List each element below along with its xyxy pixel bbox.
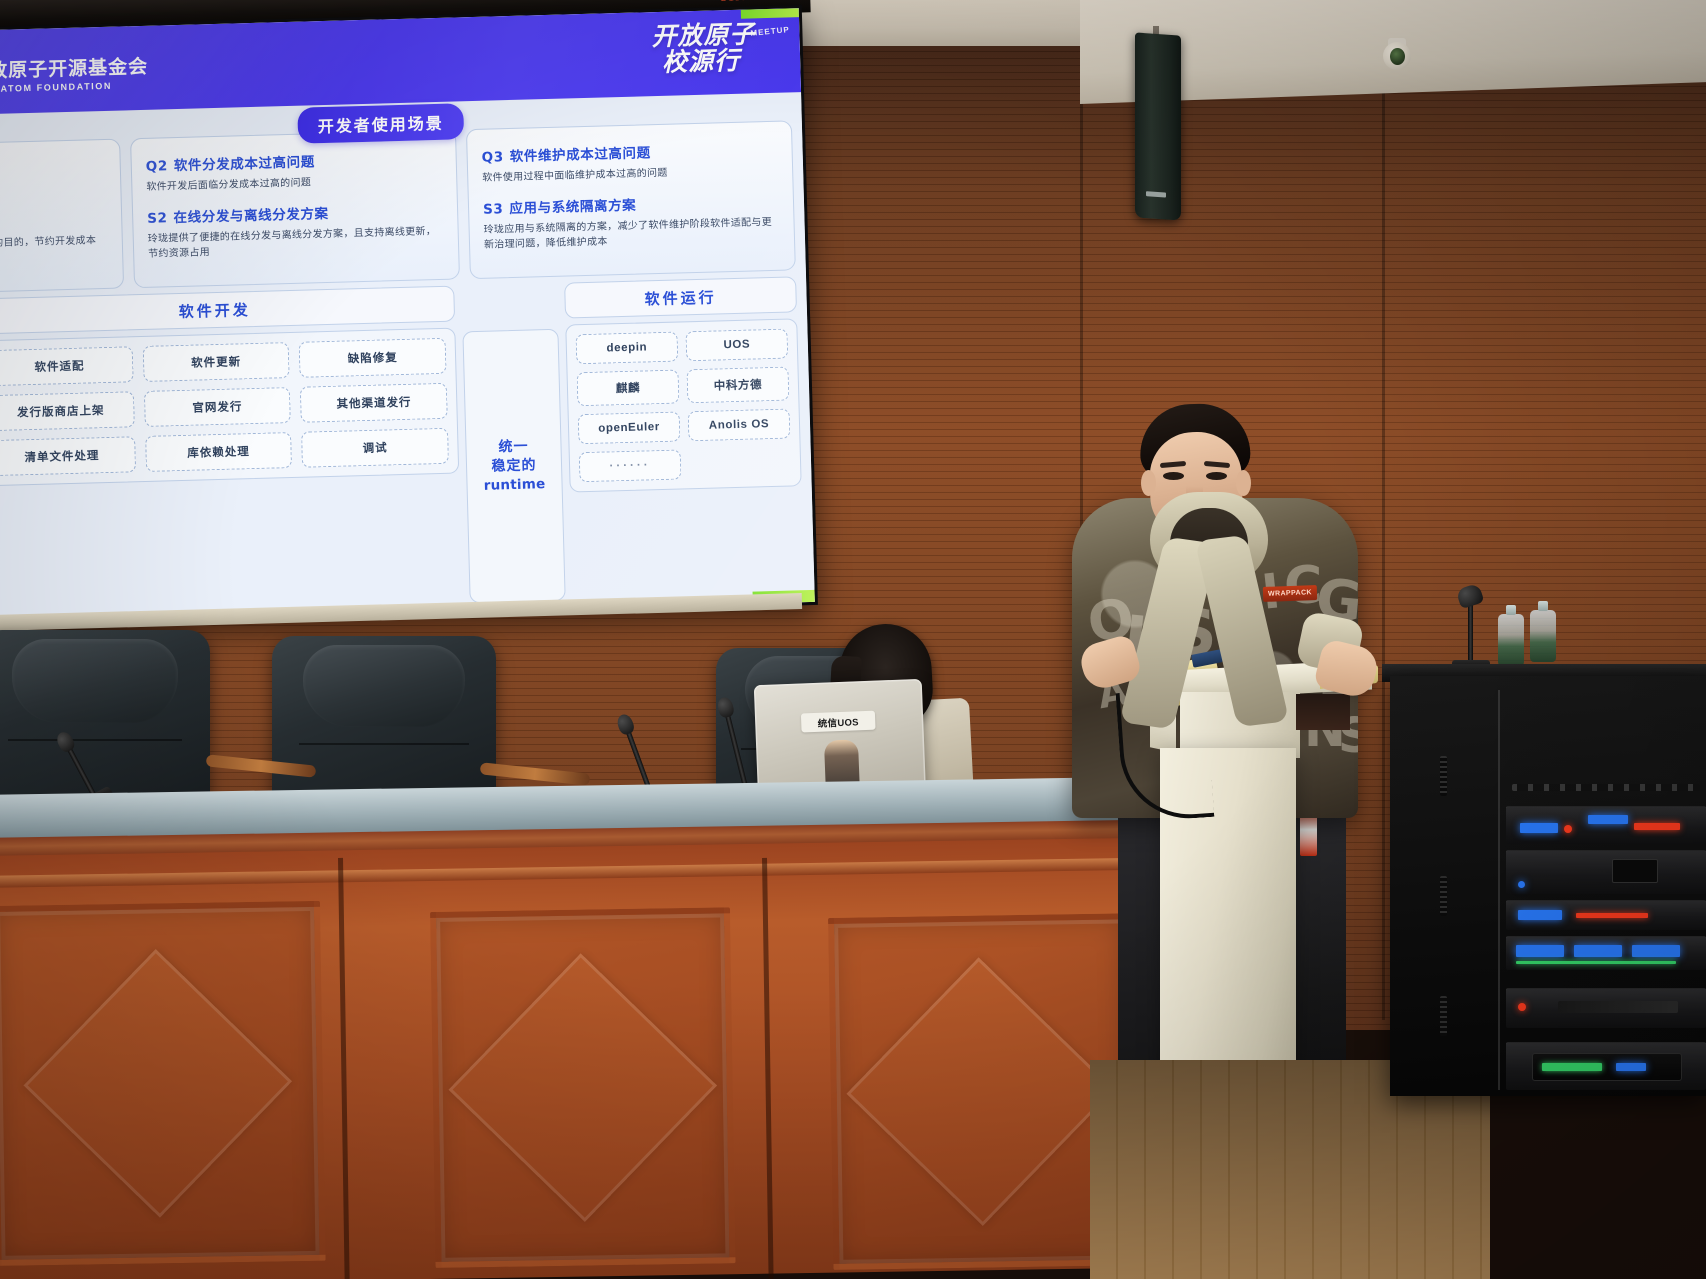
presenter-ear [1236,470,1251,496]
q3-desc: 软件使用过程中面临维护成本过高的问题 [482,163,778,187]
dev-chip: 调试 [301,428,449,468]
q3-title: Q3软件维护成本过高问题 [481,138,777,166]
water-bottle [1498,614,1524,666]
green-accent-top [741,8,799,19]
openatom-foundation-logo: 开放原子开源基金会 OPENATOM FOUNDATION [0,58,149,95]
runtime-line3: runtime [484,475,546,496]
os-chip-deepin: deepin [576,332,679,365]
s2-title-text: 在线分发与离线分发方案 [173,205,328,224]
foundation-name-en: OPENATOM FOUNDATION [0,80,149,95]
q2-title: Q2软件分发成本过高问题 [146,147,442,175]
desk-panel-carving [430,907,736,1268]
uos-sticker: 统信UOS [801,711,876,733]
question-card-row: Q1成本过高问题 发行版本、多软件版本开发的问题 S1的运行软件 稳定的运行软件… [0,120,796,292]
runtime-line2: 稳定的 [491,456,537,477]
question-card-q2: Q2软件分发成本过高问题 软件开发后面临分发成本过高的问题 S2在线分发与离线分… [130,129,460,288]
rack-mixer-unit[interactable] [1506,936,1706,970]
question-card-q1: Q1成本过高问题 发行版本、多软件版本开发的问题 S1的运行软件 稳定的运行软件… [0,139,124,298]
leather-chair [0,630,210,805]
dev-chip: 缺陷修复 [299,338,447,378]
meetup-mark: MEETUP [750,25,790,38]
run-section-title: 软件运行 [564,276,797,318]
s3-tag: S3 [483,201,504,218]
dev-chip: 软件更新 [142,342,290,382]
s2-title: S2在线分发与离线分发方案 [147,198,443,226]
presenter-eye [1163,472,1184,480]
section-badge: 开发者使用场景 [297,103,464,143]
rack-player-unit[interactable] [1506,988,1706,1028]
presentation-slide: 开放原子开源基金会 OPENATOM FOUNDATION 开放原子 校源行 M… [0,8,815,625]
s1-desc: 稳定的运行软件，支持一次打包即可发布的目的，节约开发成本 [0,232,108,256]
s3-title: S3应用与系统隔离方案 [483,189,779,217]
rack-door-seam [1498,690,1500,1090]
podium-opening [1296,694,1350,730]
screenshot-root: SONY 开放原子开源基金会 OPENATOM FOUNDATION 开放原子 … [0,0,1706,1279]
s3-title-text: 应用与系统隔离方案 [509,197,636,215]
event-logo: 开放原子 校源行 MEETUP [651,21,756,76]
slide-body: 开发者使用场景 Q1成本过高问题 发行版本、多软件版本开发的问题 S1的运行软件… [0,92,815,625]
dev-chip: 发行版商店上架 [0,391,135,431]
q2-title-text: 软件分发成本过高问题 [174,154,315,173]
os-chip-openeuler: openEuler [578,412,681,445]
rack-processor-unit[interactable] [1506,900,1706,930]
q2-desc: 软件开发后面临分发成本过高的问题 [146,172,442,196]
rack-amplifier-unit[interactable] [1506,850,1706,894]
unified-runtime-box: 统一 稳定的 runtime [462,329,565,603]
q3-title-text: 软件维护成本过高问题 [510,145,651,164]
dev-row: 发行版商店上架 官网发行 其他渠道发行 [0,383,448,431]
dev-chip: 库依赖处理 [145,432,293,472]
dev-section-title: 软件开发 [0,286,455,335]
q2-tag: Q2 [146,158,169,175]
runtime-line1: 统一 [498,436,529,457]
lower-sections: 软件开发 软件适配 软件更新 缺陷修复 发行版商店上架 [0,276,805,616]
presenter-ear [1141,470,1156,496]
dev-row: 清单文件处理 库依赖处理 调试 [0,428,449,476]
dev-chip: 官网发行 [144,387,292,427]
dev-chip: 其他渠道发行 [300,383,448,423]
jacket-patch: WRAPPACK [1263,585,1317,602]
rack-vent [1440,996,1447,1036]
question-card-q3: Q3软件维护成本过高问题 软件使用过程中面临维护成本过高的问题 S3应用与系统隔… [466,120,796,279]
os-chip-kylin: 麒麟 [577,370,680,407]
desk-panel-carving [828,913,1133,1270]
software-runtime-section: 软件运行 deepin UOS 麒麟 中科方德 openEuler Anolis… [564,276,805,600]
rack-vent [1440,876,1447,916]
s3-desc: 玲珑应用与系统隔离的方案，减少了软件维护阶段软件适配与更新治理问题，降低维护成本 [483,214,780,253]
leather-chair [272,636,496,808]
dev-chip: 清单文件处理 [0,436,136,476]
s1-title: S1的运行软件 [0,207,107,235]
q1-title: Q1成本过高问题 [0,156,106,184]
q3-tag: Q3 [481,149,504,166]
presenter-eye [1206,472,1227,480]
rack-receiver-unit[interactable] [1506,1042,1706,1090]
event-logo-line2: 校源行 [662,47,757,76]
os-chip-more: ······ [579,449,682,482]
os-chip-uos: UOS [685,329,788,362]
rack-knob-row [1512,784,1700,791]
s2-tag: S2 [147,210,168,227]
wall-seam [1382,40,1385,1020]
q1-desc: 发行版本、多软件版本开发的问题 [0,181,107,205]
projection-screen: 开放原子开源基金会 OPENATOM FOUNDATION 开放原子 校源行 M… [0,5,818,628]
os-chip-anolis: Anolis OS [688,409,791,442]
rack-vent [1440,756,1447,796]
s2-desc: 玲珑提供了便捷的在线分发与离线分发方案，且支持离线更新，节约资源占用 [148,223,445,262]
dev-row: 软件适配 软件更新 缺陷修复 [0,338,447,386]
foundation-name-cn: 开放原子开源基金会 [0,58,148,82]
software-development-section: 软件开发 软件适配 软件更新 缺陷修复 发行版商店上架 [0,286,463,617]
security-camera-icon [1383,38,1411,70]
dev-chip: 软件适配 [0,346,133,386]
projector-brand-label: SONY [720,0,753,5]
os-chip-nfs: 中科方德 [687,367,790,404]
runtime-column: 统一 稳定的 runtime [461,283,566,603]
ceiling-speaker [1135,32,1181,220]
rack-audio-unit[interactable] [1506,806,1706,844]
water-bottle [1530,610,1556,662]
desk-panel-carving [0,901,326,1266]
